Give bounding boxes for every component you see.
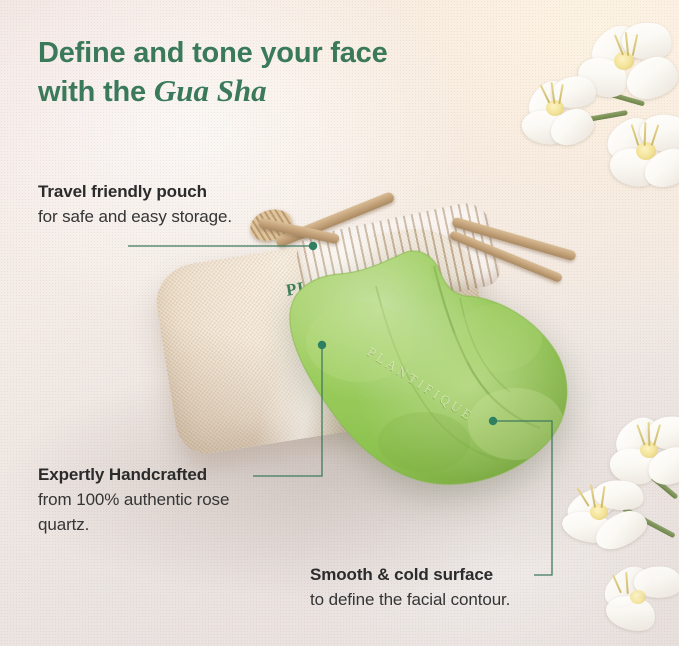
callout-body: to define the facial contour. [310, 587, 540, 612]
headline-emphasis: Gua Sha [154, 73, 267, 108]
callout-title: Smooth & cold surface [310, 563, 540, 587]
callout-title: Expertly Handcrafted [38, 463, 268, 487]
callout-handcrafted: Expertly Handcrafted from 100% authentic… [38, 463, 268, 537]
headline-line-2: with the Gua Sha [38, 72, 468, 111]
headline-line-2-prefix: with the [38, 76, 154, 108]
callout-body: from 100% authentic rose quartz. [38, 487, 268, 537]
page-title: Define and tone your face with the Gua S… [38, 34, 468, 111]
product-feature-graphic: PLA [0, 0, 679, 646]
callout-title: Travel friendly pouch [38, 180, 268, 204]
callout-smooth-cold: Smooth & cold surface to define the faci… [310, 563, 540, 612]
callout-body: for safe and easy storage. [38, 204, 268, 229]
headline-line-1: Define and tone your face [38, 34, 468, 72]
callout-travel-pouch: Travel friendly pouch for safe and easy … [38, 180, 268, 229]
